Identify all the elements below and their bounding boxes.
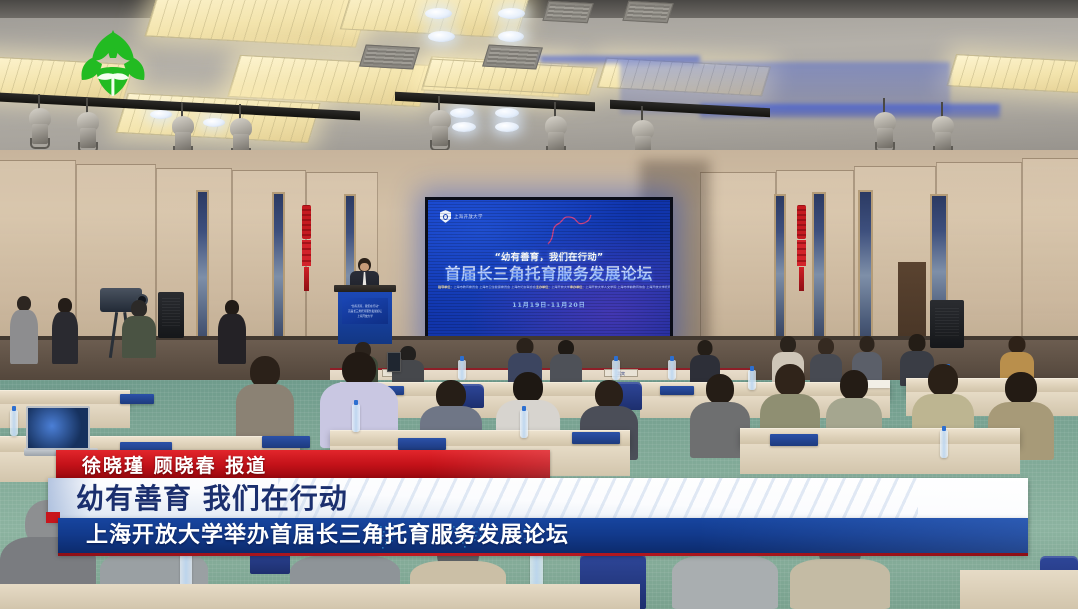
person-head [58,298,72,313]
headline-bar: 幼有善育 我们在行动 [48,478,1028,520]
mobile-phone [387,352,401,372]
ceiling-light-panel [946,54,1078,94]
nameplate: 嘉宾 [604,369,638,377]
ceiling-vent [359,45,420,70]
podium-banner-line-1: “幼有善育，我们在行动” [351,304,380,308]
person-head [928,364,958,396]
knot-tassel [304,267,309,291]
person-head [775,364,805,396]
reporter-credit-bar: 徐晓瑾 顾晓春 报道 [56,450,550,480]
screen-org-logo: 上海开放大学 [440,210,483,223]
knot-middle [302,240,311,266]
headline-text: 幼有善育 我们在行动 [76,479,348,519]
ceiling-light-panel [144,0,370,48]
screen-quote-line: “幼有善育，我们在行动” [428,249,670,263]
screen-org-host-label: 主办单位： [536,285,551,289]
conference-folder [120,394,154,404]
ceiling-vent [542,1,593,23]
pa-speaker [930,300,964,348]
person-body [10,310,38,364]
person-head [131,300,147,317]
person-head [225,300,239,315]
shield-icon [440,210,451,223]
conference-folder [398,438,446,450]
knot-upper [302,205,311,239]
subheadline-text: 上海开放大学举办首届长三角托育服务发展论坛 [86,519,569,553]
person-head [1005,372,1037,404]
spotlight-yoke [30,138,50,149]
standing-attendee [52,298,78,364]
ceiling-vent [482,45,543,70]
screen-org-guidance-label: 指导单位： [438,285,453,289]
podium-banner: “幼有善育，我们在行动” 首届长三角托育服务发展论坛 上海开放大学 [342,298,388,324]
water-bottle [352,404,360,432]
chinese-knot-decoration [797,205,806,291]
person-body [236,384,294,442]
ceiling-downlight [428,31,455,42]
audience-member [236,356,294,442]
person-head [840,370,868,400]
person-head [860,336,875,352]
knot-tassel [799,267,804,291]
podium-banner-line-2: 首届长三角托育服务发展论坛 [348,309,382,313]
green-leaf-station-logo [72,28,154,100]
stage-led-screen: 上海开放大学 “幼有善育，我们在行动” 首届长三角托育服务发展论坛 指导单位：上… [425,197,673,349]
stage-spotlight [27,108,53,152]
podium: “幼有善育，我们在行动” 首届长三角托育服务发展论坛 上海开放大学 [338,288,392,344]
person-body [52,312,78,364]
reporter-credit-text: 徐晓瑾 顾晓春 报道 [82,452,267,480]
person-head [909,334,926,352]
screen-org-organizer: 承办单位：上海开放大学人文学院 上海市学前教育协会 上海开放大学托育服务研究中心 [570,284,670,289]
screen-org-host-value: 上海开放大学 [551,285,570,289]
person-body [122,316,156,358]
person-head [780,336,796,353]
conference-folder [262,436,310,448]
person-head [1009,336,1026,353]
person-body [672,555,778,609]
lower-third-underline [58,553,1028,556]
broadcast-frame: 上海开放大学 “幼有善育，我们在行动” 首届长三角托育服务发展论坛 指导单位：上… [0,0,1078,609]
water-bottle [520,410,528,438]
screen-org-logo-label: 上海开放大学 [454,214,483,220]
podium-banner-line-3: 上海开放大学 [357,314,373,318]
screen-org-guidance-value: 上海市教育委员会 上海市卫生健康委员会 上海市妇女联合会 [453,285,535,289]
screen-organizer-row: 指导单位：上海市教育委员会 上海市卫生健康委员会 上海市妇女联合会 主办单位：上… [438,284,660,289]
tripod-leg [109,312,118,358]
person-head [513,372,543,403]
podium-top [334,285,396,292]
audience-table-cloth [0,584,640,609]
ceiling-downlight [495,122,519,132]
person-head [17,296,31,311]
knot-upper [797,205,806,239]
ceiling-downlight [452,122,476,132]
ceiling-downlight [203,118,225,127]
ceiling-downlight [450,108,474,118]
person-head [818,338,834,355]
standing-attendee [10,296,38,364]
person-head [698,340,713,356]
water-bottle [612,360,620,380]
ceiling-downlight [498,31,524,42]
ceiling-vent [622,1,673,23]
subheadline-bar: 上海开放大学举办首届长三角托育服务发展论坛 [58,518,1028,554]
person-body [790,559,890,609]
speaker-face [360,263,369,271]
audience-table-cloth [740,444,1020,474]
ceiling-downlight [495,108,519,118]
lighting-truss [395,92,595,111]
ceiling [0,0,1078,172]
water-bottle [458,360,466,380]
ceiling-downlight [425,8,452,19]
subheadline-sheen [698,518,1028,554]
audience-table-cloth [960,570,1078,609]
ceiling-downlight [150,110,172,119]
person-head [706,374,734,404]
screen-title-line: 首届长三角托育服务发展论坛 [428,262,670,284]
chinese-knot-decoration [302,205,311,291]
water-bottle [940,430,948,458]
knot-middle [797,240,806,266]
screen-ribbon-graphic [546,214,592,246]
screen-org-guidance: 指导单位：上海市教育委员会 上海市卫生健康委员会 上海市妇女联合会 [438,284,536,289]
conference-folder [660,386,694,395]
screen-org-organizer-value: 上海开放大学人文学院 上海市学前教育协会 上海开放大学托育服务研究中心 [585,285,670,289]
conference-folder [770,434,818,446]
water-bottle [668,360,676,380]
led-screen-content: 上海开放大学 “幼有善育，我们在行动” 首届长三角托育服务发展论坛 指导单位：上… [428,200,670,346]
stage-spotlight [427,110,453,154]
screen-org-organizer-label: 承办单位： [570,285,585,289]
pa-speaker [158,292,184,338]
water-bottle [10,410,18,436]
conference-folder [572,432,620,444]
camera-operator [122,300,156,358]
screen-date-line: 11月19日-11月20日 [428,300,670,309]
person-head [342,352,376,386]
screen-org-host: 主办单位：上海开放大学 [536,284,570,289]
standing-photographer [218,300,246,364]
person-head [595,380,623,409]
laptop-screen [26,406,90,450]
ceiling-downlight [498,8,525,19]
